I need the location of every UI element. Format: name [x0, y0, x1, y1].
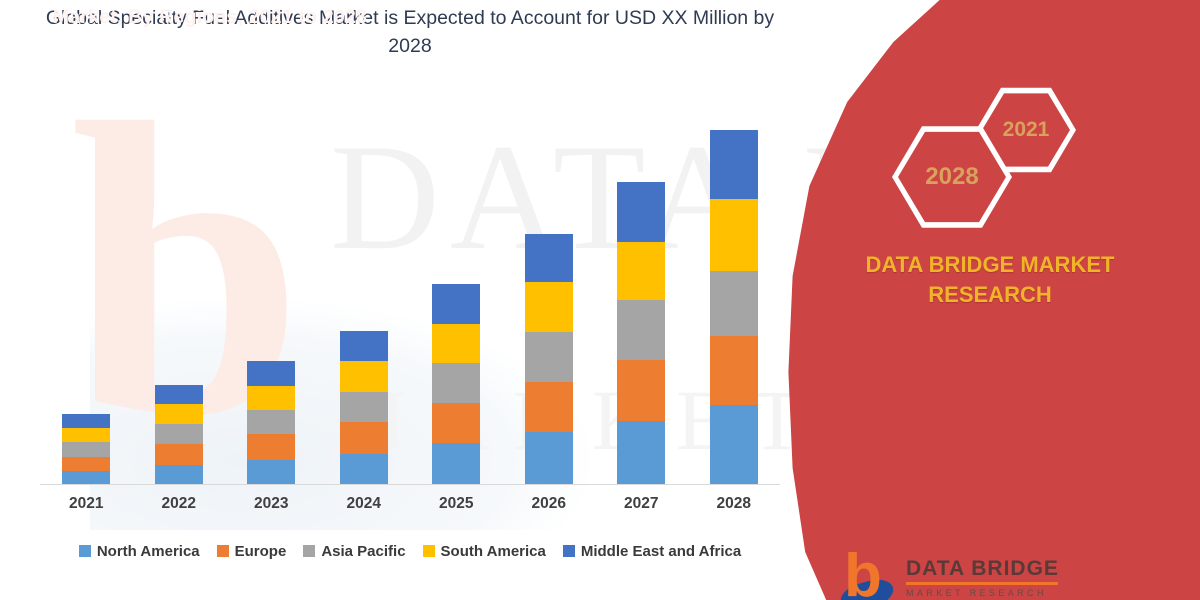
logo-tagline: MARKET RESEARCH [906, 587, 1059, 599]
bar-segment [617, 360, 665, 421]
legend-label: South America [441, 543, 546, 560]
data-bridge-logo: b DATA BRIDGE MARKET RESEARCH [838, 552, 1138, 600]
brand-line-2: RESEARCH [780, 280, 1200, 310]
x-axis-tick-label: 2028 [689, 495, 779, 513]
bar-segment [710, 199, 758, 271]
infographic-root: b DATA BRIDGE MARKET RESEARCH Global Spe… [0, 0, 1200, 600]
chart-legend: North AmericaEuropeAsia PacificSouth Ame… [40, 538, 780, 564]
stacked-bar [155, 385, 203, 485]
stacked-bar [340, 331, 388, 485]
bar-segment [710, 405, 758, 485]
x-axis-tick-label: 2023 [226, 495, 316, 513]
hex-badge-group: 2021 2028 [780, 85, 1200, 220]
x-axis-tick-label: 2027 [596, 495, 686, 513]
bar-segment [340, 422, 388, 453]
bar-segment [62, 414, 110, 428]
legend-label: Middle East and Africa [581, 543, 741, 560]
hex-badge-2028-label: 2028 [925, 163, 978, 191]
bar-segment [62, 428, 110, 442]
legend-item[interactable]: Asia Pacific [303, 543, 405, 560]
bar-segment [710, 336, 758, 405]
x-axis-line [40, 484, 780, 485]
bar-segment [62, 442, 110, 456]
bar-segment [247, 386, 295, 410]
logo-b-letter: b [844, 554, 888, 600]
stacked-bar [432, 284, 480, 485]
bar-segment [525, 432, 573, 485]
bar-segment [432, 284, 480, 324]
bar-segment [432, 324, 480, 364]
bar-segment [432, 443, 480, 485]
bar-segment [62, 457, 110, 471]
bar-segment [710, 130, 758, 199]
bar-plot-area [40, 120, 780, 485]
bar-segment [155, 465, 203, 485]
legend-item[interactable]: South America [423, 543, 546, 560]
legend-swatch-icon [303, 545, 315, 557]
bar-segment [432, 363, 480, 403]
stacked-bar [617, 182, 665, 485]
bar-segment [247, 361, 295, 385]
logo-b-icon: b [838, 552, 894, 600]
bar-segment [155, 444, 203, 464]
bar-segment [525, 282, 573, 332]
brand-line-1: DATA BRIDGE MARKET [780, 250, 1200, 280]
bar-segment [710, 271, 758, 336]
bar-segment [525, 382, 573, 433]
bar-segment [62, 471, 110, 485]
x-axis-tick-label: 2022 [134, 495, 224, 513]
bar-segment [617, 182, 665, 242]
legend-swatch-icon [79, 545, 91, 557]
bar-segment [617, 242, 665, 301]
stacked-bar [710, 130, 758, 485]
x-axis-tick-label: 2026 [504, 495, 594, 513]
bar-segment [155, 385, 203, 404]
bar-segment [155, 404, 203, 424]
stacked-bar [247, 361, 295, 485]
bar-segment [617, 421, 665, 485]
legend-label: Asia Pacific [321, 543, 405, 560]
logo-name: DATA BRIDGE [906, 558, 1059, 580]
legend-item[interactable]: Middle East and Africa [563, 543, 741, 560]
bar-segment [525, 234, 573, 283]
bar-segment [247, 434, 295, 459]
legend-swatch-icon [563, 545, 575, 557]
bar-segment [340, 454, 388, 485]
stacked-bar [525, 234, 573, 485]
legend-item[interactable]: Europe [217, 543, 287, 560]
bar-segment [155, 424, 203, 444]
bar-segment [247, 410, 295, 434]
chart-panel: Global Specialty Fuel Additives Market i… [0, 0, 820, 600]
legend-swatch-icon [423, 545, 435, 557]
x-axis-tick-label: 2025 [411, 495, 501, 513]
brand-block: DATA BRIDGE MARKET RESEARCH [780, 250, 1200, 310]
legend-item[interactable]: North America [79, 543, 200, 560]
x-axis-labels: 20212022202320242025202620272028 [40, 495, 780, 523]
legend-label: Europe [235, 543, 287, 560]
bar-segment [617, 300, 665, 360]
x-axis-tick-label: 2024 [319, 495, 409, 513]
bar-segment [432, 403, 480, 444]
stacked-bar [62, 414, 110, 485]
logo-divider [906, 582, 1058, 585]
hex-badge-2021-label: 2021 [1003, 118, 1050, 142]
hex-badge-2028: 2028 [892, 123, 1012, 231]
bar-segment [340, 331, 388, 361]
bar-segment [525, 332, 573, 382]
legend-label: North America [97, 543, 200, 560]
bar-segment [340, 392, 388, 422]
bar-segment [340, 361, 388, 391]
legend-swatch-icon [217, 545, 229, 557]
bar-segment [247, 460, 295, 485]
x-axis-tick-label: 2021 [41, 495, 131, 513]
right-panel-heading: Market, By Regions, 2021 to 2028 [0, 6, 420, 29]
logo-text-block: DATA BRIDGE MARKET RESEARCH [906, 552, 1059, 599]
